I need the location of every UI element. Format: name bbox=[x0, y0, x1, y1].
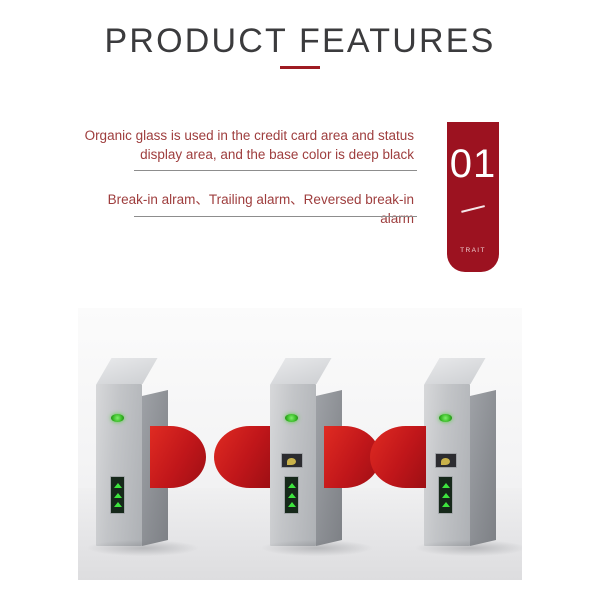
gate-left-shadow bbox=[88, 540, 198, 556]
gate-center-card-reader-icon bbox=[281, 453, 303, 468]
gate-center-shadow bbox=[262, 540, 372, 556]
gate-left-status-led-icon bbox=[111, 414, 124, 422]
gate-center-top bbox=[270, 358, 331, 384]
gate-left-body bbox=[96, 384, 142, 546]
chevron-up-icon bbox=[114, 483, 122, 488]
trait-number: 01 bbox=[447, 144, 499, 184]
gate-right-arrow-panel bbox=[438, 476, 453, 514]
product-photo bbox=[78, 308, 522, 580]
trait-label: TRAIT bbox=[447, 247, 499, 254]
chevron-up-icon bbox=[114, 493, 122, 498]
chevron-up-icon bbox=[288, 502, 296, 507]
gate-right-top bbox=[424, 358, 485, 384]
chevron-up-icon bbox=[288, 493, 296, 498]
gate-left-arrow-panel bbox=[110, 476, 125, 514]
feature-item-2: Break-in alram、Trailing alarm、Reversed b… bbox=[78, 190, 418, 228]
feature-item-1-divider bbox=[134, 170, 417, 171]
gate-center-flap-wing-left bbox=[214, 426, 270, 488]
trait-slash-icon bbox=[461, 205, 485, 212]
gate-left-flap-wing bbox=[150, 426, 206, 488]
feature-item-2-text: Break-in alram、Trailing alarm、Reversed b… bbox=[78, 190, 418, 228]
chevron-up-icon bbox=[442, 502, 450, 507]
feature-item-1: Organic glass is used in the credit card… bbox=[78, 126, 418, 164]
feature-item-2-divider bbox=[134, 216, 417, 217]
gate-right-shadow bbox=[416, 540, 522, 556]
chevron-up-icon bbox=[442, 493, 450, 498]
gate-right-card-reader-icon bbox=[435, 453, 457, 468]
gate-right-status-led-icon bbox=[439, 414, 452, 422]
chevron-up-icon bbox=[288, 483, 296, 488]
page-title: PRODUCT FEATURES bbox=[0, 22, 600, 61]
gate-center-status-led-icon bbox=[285, 414, 298, 422]
chevron-up-icon bbox=[442, 483, 450, 488]
gate-right-flap-wing bbox=[370, 426, 426, 488]
feature-item-1-text: Organic glass is used in the credit card… bbox=[78, 126, 418, 164]
gate-left-top bbox=[96, 358, 157, 384]
title-underline-accent bbox=[280, 66, 320, 69]
chevron-up-icon bbox=[114, 502, 122, 507]
gate-right-side bbox=[470, 390, 496, 546]
trait-number-card: 01 TRAIT bbox=[447, 122, 499, 272]
gate-center-arrow-panel bbox=[284, 476, 299, 514]
